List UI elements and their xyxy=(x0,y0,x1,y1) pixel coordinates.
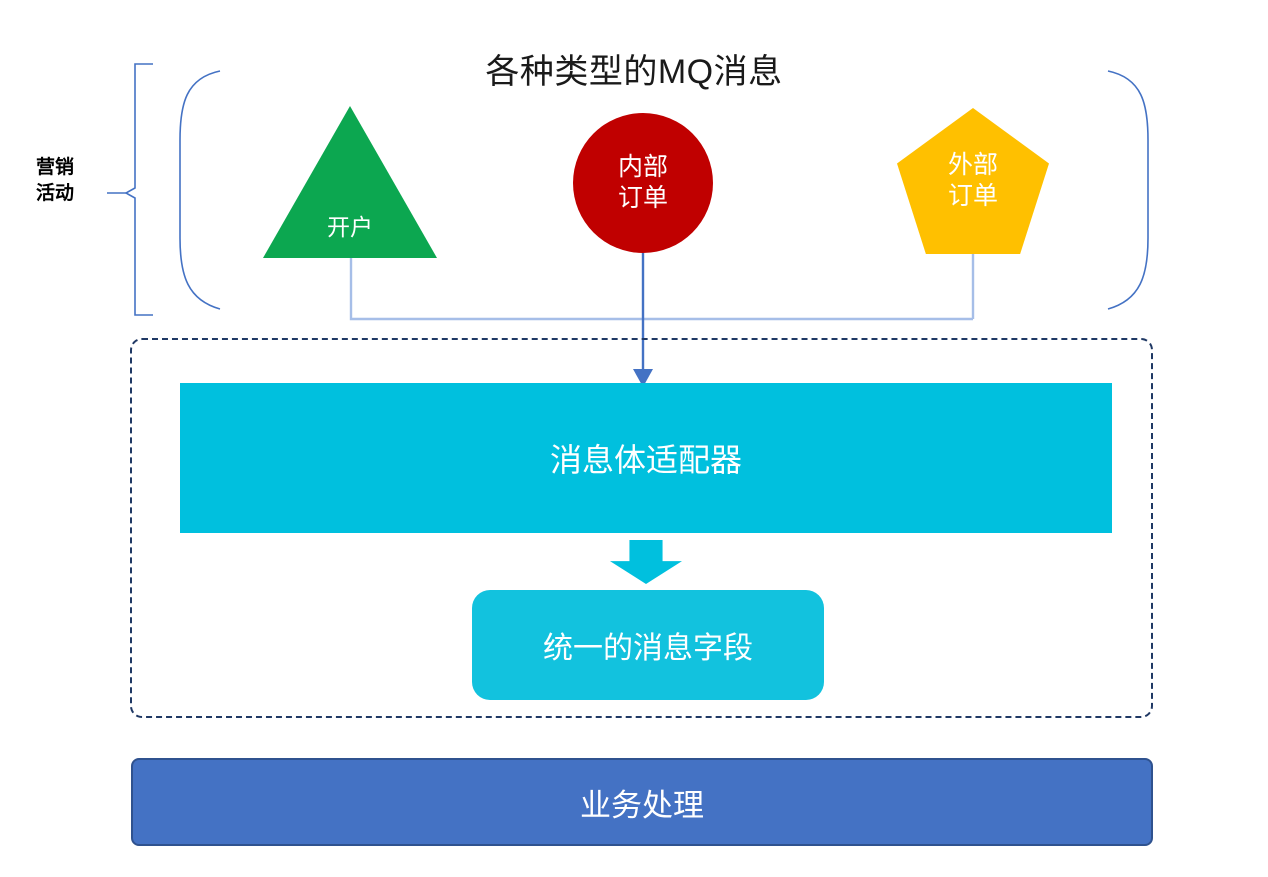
source-label-internal-order-line-1: 内部 xyxy=(618,152,668,183)
unified-fields-box[interactable]: 统一的消息字段 xyxy=(472,590,824,700)
source-label-external-order-line-2: 订单 xyxy=(897,181,1049,212)
source-label-external-order: 外部 订单 xyxy=(897,150,1049,212)
source-label-external-order-line-1: 外部 xyxy=(897,150,1049,181)
source-label-internal-order-line-2: 订单 xyxy=(618,183,668,214)
group-label-line-1: 营销 xyxy=(36,155,122,181)
source-shape-open-account[interactable]: 开户 xyxy=(263,106,437,258)
adapter-bar-label: 消息体适配器 xyxy=(550,435,742,481)
group-label-line-2: 活动 xyxy=(36,181,122,207)
source-label-open-account: 开户 xyxy=(263,208,437,242)
left-paren-icon xyxy=(180,71,220,309)
connector-open-account xyxy=(351,258,973,319)
unified-fields-label: 统一的消息字段 xyxy=(543,623,753,667)
adapter-bar[interactable]: 消息体适配器 xyxy=(180,383,1112,533)
diagram-canvas: 各种类型的MQ消息 营销 活动 开户 内部 订单 xyxy=(0,0,1268,877)
source-shape-internal-order[interactable]: 内部 订单 xyxy=(573,113,713,253)
source-shape-external-order[interactable]: 外部 订单 xyxy=(897,108,1049,254)
right-paren-icon xyxy=(1108,71,1148,309)
group-label: 营销 活动 xyxy=(36,155,122,206)
business-processing-bar[interactable]: 业务处理 xyxy=(131,758,1153,846)
page-title: 各种类型的MQ消息 xyxy=(0,44,1268,93)
business-processing-label: 业务处理 xyxy=(580,780,704,825)
